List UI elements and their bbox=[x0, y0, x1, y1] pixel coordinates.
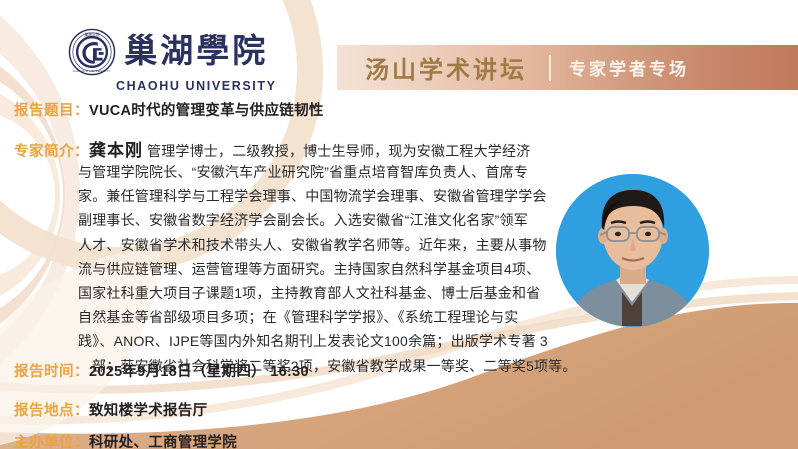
bio-line: 自然基金等省部级项目多项；在《管理科学学报》、《系统工程理论与实 bbox=[78, 305, 546, 329]
report-title-row: 报告题目： VUCA时代的管理变革与供应链韧性 bbox=[14, 99, 324, 120]
university-name-cn: 巢湖學院 bbox=[124, 36, 268, 69]
banner-main-title: 汤山学术讲坛 bbox=[365, 50, 527, 85]
expert-name: 龚本刚 bbox=[89, 136, 143, 161]
svg-text:巢湖学院: 巢湖学院 bbox=[85, 32, 100, 37]
university-seal-icon: 巢湖学院 CHAOHU UNIVERSITY bbox=[68, 28, 116, 76]
poster-canvas: 巢湖学院 CHAOHU UNIVERSITY 巢湖學院 CHAOHU UNIVE… bbox=[0, 0, 798, 449]
organizer-label: 主办单位： bbox=[14, 431, 89, 449]
university-logo: 巢湖学院 CHAOHU UNIVERSITY 巢湖學院 CHAOHU UNIVE… bbox=[60, 28, 277, 93]
organizer-row: 主办单位： 科研处、工商管理学院 bbox=[14, 431, 237, 449]
organizer-value: 科研处、工商管理学院 bbox=[89, 431, 237, 449]
bio-line: 人才、安徽省学术和技术带头人、安徽省教学名师等。近年来，主要从事物 bbox=[78, 233, 546, 257]
expert-bio-row: 专家简介： 龚本刚 管理学博士，二级教授，博士生导师，现为安徽工程大学经济 bbox=[14, 136, 530, 161]
bio-line: 国家社科重大项目子课题1项，主持教育部人文社科基金、博士后基金和省 bbox=[78, 281, 546, 305]
bio-line: 家。兼任管理科学与工程学会理事、中国物流学会理事、安徽省管理学学会 bbox=[78, 184, 546, 208]
speaker-portrait bbox=[556, 174, 709, 327]
poster-header: 巢湖学院 CHAOHU UNIVERSITY 巢湖學院 CHAOHU UNIVE… bbox=[0, 0, 798, 96]
report-place-row: 报告地点： 致知楼学术报告厅 bbox=[14, 399, 207, 420]
speaker-portrait-image bbox=[556, 174, 709, 327]
report-title-label: 报告题目： bbox=[14, 99, 89, 120]
expert-bio-label: 专家简介： bbox=[14, 140, 89, 161]
report-time-value: 2025年9月18日（星期四） 16:30 bbox=[89, 360, 309, 381]
svg-text:CHAOHU UNIVERSITY: CHAOHU UNIVERSITY bbox=[73, 69, 111, 73]
expert-bio-paragraph: 与管理学院院长、“安徽汽车产业研究院”省重点培育智库负责人、首席专 家。兼任管理… bbox=[78, 160, 546, 378]
banner-divider bbox=[549, 55, 551, 81]
bio-line: 副理事长、安徽省数字经济学会副会长。入选安徽省“江淮文化名家”领军 bbox=[78, 208, 546, 232]
report-place-value: 致知楼学术报告厅 bbox=[89, 399, 207, 420]
report-title-value: VUCA时代的管理变革与供应链韧性 bbox=[89, 99, 324, 120]
report-time-row: 报告时间： 2025年9月18日（星期四） 16:30 bbox=[14, 360, 309, 381]
bio-line: 践》、ANOR、IJPE等国内外知名期刊上发表论文100余篇；出版学术专著 3 bbox=[78, 329, 546, 353]
university-name-en: CHAOHU UNIVERSITY bbox=[116, 79, 277, 93]
report-place-label: 报告地点： bbox=[14, 399, 89, 420]
expert-bio-first-line: 管理学博士，二级教授，博士生导师，现为安徽工程大学经济 bbox=[147, 141, 530, 161]
event-banner: 汤山学术讲坛 专家学者专场 bbox=[337, 45, 798, 90]
banner-sub-title: 专家学者专场 bbox=[569, 55, 689, 80]
report-time-label: 报告时间： bbox=[14, 360, 89, 381]
bio-line: 流与供应链管理、运营管理等方面研究。主持国家自然科学基金项目4项、 bbox=[78, 257, 546, 281]
bio-line: 与管理学院院长、“安徽汽车产业研究院”省重点培育智库负责人、首席专 bbox=[78, 160, 546, 184]
